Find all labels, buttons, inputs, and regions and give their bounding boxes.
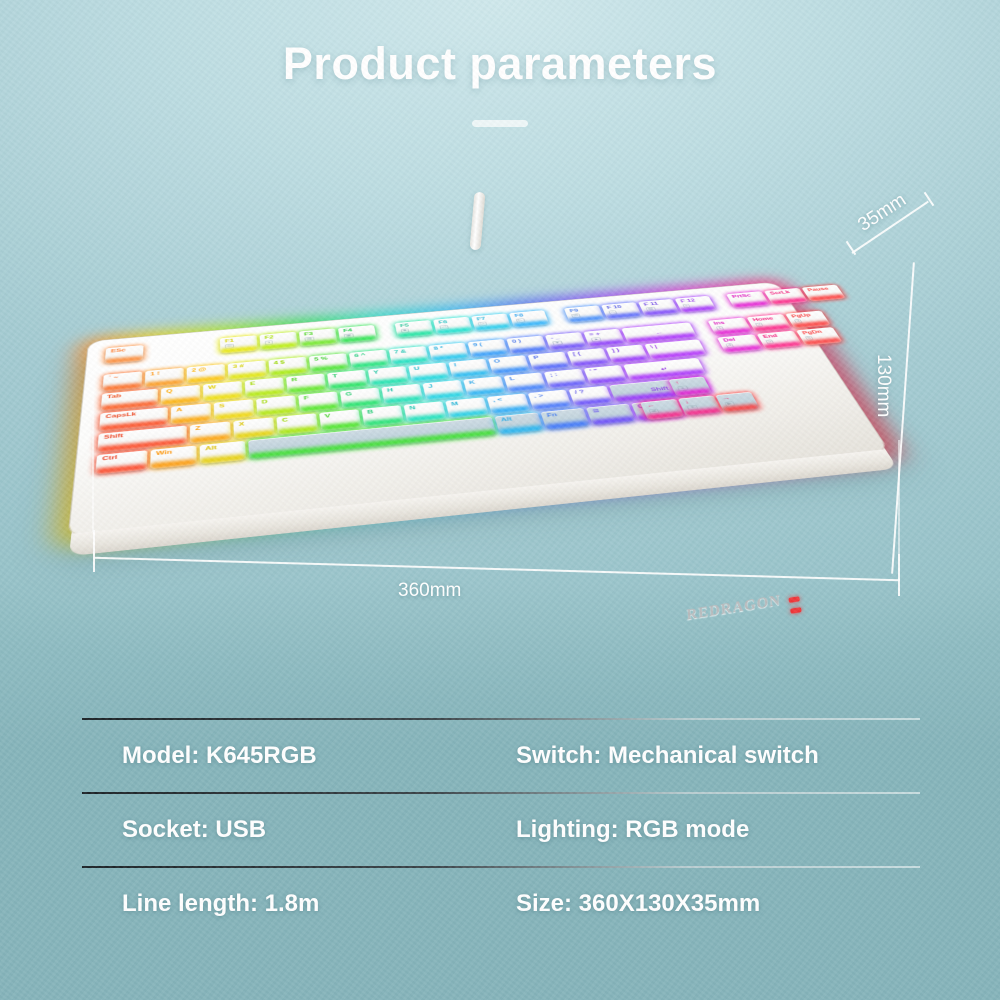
key-sublegend: ▲	[677, 386, 689, 391]
key-space[interactable]: ≣	[586, 404, 636, 426]
spec-item-left: Model: K645RGB	[82, 742, 492, 770]
key-legend: 5 %	[314, 356, 328, 361]
key-gap	[377, 323, 395, 339]
key-f3[interactable]: F3▤	[299, 328, 338, 346]
key-legend: ←	[654, 330, 663, 335]
key-legend: Shift	[650, 386, 670, 392]
key-s[interactable]: S	[214, 399, 254, 420]
key-pgdn[interactable]: PgDn6	[796, 327, 843, 345]
key-legend: V	[324, 414, 330, 419]
key-2[interactable]: 2 @	[187, 364, 226, 384]
key-arrow-right[interactable]: →▶	[715, 392, 760, 413]
spec-item-left: Socket: USB	[82, 816, 492, 844]
key-sublegend: ◁	[439, 325, 448, 330]
key-f7[interactable]: F7▷	[471, 313, 511, 331]
key-f9[interactable]: F9✉	[564, 305, 605, 322]
key-legend: Ins	[713, 321, 726, 326]
key-legend: F 11	[643, 302, 659, 307]
key-gap	[146, 339, 218, 361]
key-f-10[interactable]: F 10⌂	[601, 302, 642, 319]
key-legend: N	[409, 406, 416, 411]
key-f2[interactable]: F2◑	[259, 332, 297, 350]
key-capslk[interactable]: CapsLk	[99, 407, 168, 431]
key-legend: Q	[166, 389, 173, 394]
key-sublegend: ▷	[478, 322, 487, 327]
key-del[interactable]: Del4	[717, 334, 763, 353]
key-legend: F	[303, 396, 309, 401]
key-esc[interactable]: ESc	[105, 345, 144, 364]
keyboard-tilt: EScF1☰F2◑F3▤F4▣F5■F6◁F7▷F8▷F9✉F 10⌂F 11▧…	[68, 282, 894, 546]
key-8[interactable]: 8 *	[428, 342, 469, 361]
key-legend: Shift	[104, 433, 124, 440]
key-sublegend: ✉	[571, 313, 581, 318]
key-space[interactable]: ` ~	[102, 371, 142, 391]
key-legend: Tab	[107, 394, 122, 400]
spec-row: Line length: 1.8mSize: 360X130X35mm	[82, 868, 920, 940]
key-space[interactable]: = +▲	[583, 329, 625, 347]
key-h[interactable]: H	[381, 384, 423, 405]
spec-row: Socket: USBLighting: RGB mode	[82, 794, 920, 866]
key-scrlk[interactable]: ScrLk	[764, 288, 808, 305]
key-legend: Z	[195, 426, 200, 431]
key-space[interactable]	[248, 417, 497, 460]
key-1[interactable]: 1 !	[145, 368, 184, 388]
key-space[interactable]: ] }	[606, 344, 649, 363]
key-legend: W	[208, 385, 216, 390]
key-space[interactable]: ' "	[584, 365, 628, 385]
key-r[interactable]: R	[286, 373, 326, 393]
keyboard-case: EScF1☰F2◑F3▤F4▣F5■F6◁F7▷F8▷F9✉F 10⌂F 11▧…	[69, 282, 889, 537]
key-legend: 8 *	[433, 346, 444, 351]
key-legend: J	[428, 384, 434, 389]
key-legend: / ?	[574, 390, 585, 395]
key-legend: Ctrl	[102, 455, 118, 462]
key-legend: Ctrl	[637, 403, 653, 409]
key-sublegend: ■	[401, 328, 409, 333]
key-sublegend: ▤	[304, 337, 314, 342]
key-legend: 9 (	[473, 343, 483, 348]
key-l[interactable]: L	[504, 372, 547, 392]
key-space[interactable]: , <	[487, 393, 531, 414]
key-legend: L	[509, 377, 515, 382]
key-legend: S	[219, 404, 225, 409]
key-legend: ESc	[111, 348, 126, 353]
key-f5[interactable]: F5■	[395, 320, 434, 338]
key-legend: F6	[438, 320, 448, 325]
key-legend: ; :	[549, 373, 558, 378]
key-arrow-down[interactable]: ↓▼	[678, 395, 723, 416]
key-space[interactable]: [ {	[567, 348, 610, 367]
key-legend: Win	[156, 450, 172, 457]
key-legend: - _	[550, 336, 560, 341]
key-ins[interactable]: Ins1	[707, 317, 752, 335]
key-f[interactable]: F	[298, 391, 339, 412]
key-legend: F5	[400, 323, 410, 328]
key-legend: 2 @	[192, 367, 207, 373]
key-legend: G	[345, 392, 352, 397]
key-3[interactable]: 3 #	[228, 360, 267, 380]
key-legend: ←	[646, 403, 656, 408]
key-sublegend: ▷	[516, 318, 525, 323]
key-space[interactable]: ; :	[544, 369, 588, 389]
key-fn[interactable]: Fn	[540, 408, 589, 430]
key-pgup[interactable]: PgUp3	[785, 311, 831, 329]
key-legend: ↓	[684, 400, 690, 405]
keyboard-perspective-wrapper: EScF1☰F2◑F3▤F4▣F5■F6◁F7▷F8▷F9✉F 10⌂F 11▧…	[96, 232, 840, 562]
spec-item-right: Switch: Mechanical switch	[492, 742, 920, 770]
key-legend: Pause	[807, 287, 830, 292]
key-shift[interactable]: Shift	[97, 425, 187, 452]
key-a[interactable]: A	[171, 403, 211, 424]
key-legend: 7 &	[394, 349, 407, 354]
key-o[interactable]: O	[488, 355, 530, 374]
key-i[interactable]: I	[448, 359, 490, 379]
spec-item-left: Line length: 1.8m	[82, 890, 492, 918]
page-title: Product parameters	[0, 38, 1000, 90]
key-0[interactable]: 0 )	[506, 336, 548, 355]
key-f6[interactable]: F6◁	[433, 317, 473, 335]
key-legend: Del	[722, 338, 736, 343]
key-sublegend: ◀	[648, 409, 659, 415]
key-legend: Fn	[546, 412, 558, 418]
key-v[interactable]: V	[319, 409, 361, 431]
key-legend: F7	[476, 317, 486, 322]
led-indicator-scroll	[790, 607, 802, 614]
key-sublegend: ☰	[225, 344, 234, 349]
key-sublegend: ⌂	[608, 310, 617, 314]
key-legend: E	[250, 381, 256, 386]
key-legend: F3	[304, 332, 313, 337]
key-sublegend: ◑	[265, 340, 273, 345]
key-legend: ' "	[589, 369, 598, 374]
key-legend: End	[762, 334, 778, 339]
key-legend: \ |	[650, 345, 658, 350]
key-sublegend: ▣	[344, 333, 354, 338]
key-sublegend: 2	[755, 323, 764, 328]
key-home[interactable]: Home2	[746, 314, 791, 332]
key-t[interactable]: T	[327, 370, 368, 390]
key-j[interactable]: J	[422, 380, 464, 400]
key-u[interactable]: U	[408, 362, 449, 382]
key-f1[interactable]: F1☰	[220, 335, 258, 354]
key-sublegend: ⌕	[682, 304, 691, 308]
key-legend: ` ~	[108, 375, 118, 380]
key-sublegend: ▲	[591, 337, 602, 342]
key-legend: H	[387, 388, 394, 393]
key-legend: Alt	[500, 417, 512, 423]
key-ctrl[interactable]: Ctrl	[95, 450, 147, 474]
key-b[interactable]: B	[361, 405, 404, 427]
key-space[interactable]: - _▼	[545, 332, 587, 351]
title-underline-accent	[472, 120, 528, 127]
key-f-11[interactable]: F 11▧	[638, 299, 680, 316]
key-legend: F 10	[606, 305, 622, 310]
key-m[interactable]: M	[445, 397, 489, 418]
led-indicator-caps	[788, 596, 800, 603]
key-4[interactable]: 4 $	[268, 357, 307, 377]
spec-item-right: Lighting: RGB mode	[492, 816, 920, 844]
key-d[interactable]: D	[256, 395, 297, 416]
key-legend: K	[469, 380, 476, 385]
key-legend: 1 !	[150, 371, 160, 376]
key-legend: ≣	[592, 408, 601, 413]
key-pause[interactable]: Pause	[801, 285, 846, 302]
key-legend: 6 ^	[354, 353, 366, 358]
product-image-stage: EScF1☰F2◑F3▤F4▣F5■F6◁F7▷F8▷F9✉F 10⌂F 11▧…	[0, 170, 1000, 640]
spec-item-right: Size: 360X130X35mm	[492, 890, 920, 918]
key-alt[interactable]: Alt	[495, 412, 544, 434]
key-k[interactable]: K	[463, 376, 506, 396]
key-legend: ScrLk	[769, 290, 791, 295]
key-space[interactable]: / ?	[568, 386, 613, 407]
key-f4[interactable]: F4▣	[338, 325, 377, 343]
key-legend: M	[451, 402, 459, 407]
brand-logo: REDRAGON	[686, 592, 781, 624]
key-legend: P	[533, 356, 540, 361]
key-sublegend: ▧	[645, 307, 656, 312]
key-c[interactable]: C	[276, 413, 318, 435]
key-space[interactable]: . >	[528, 390, 572, 411]
keycap-plate: EScF1☰F2◑F3▤F4▣F5■F6◁F7▷F8▷F9✉F 10⌂F 11▧…	[91, 290, 870, 526]
key-legend: PgUp	[791, 313, 812, 319]
key-legend: [ {	[572, 352, 581, 357]
key-f8[interactable]: F8▷	[509, 310, 549, 328]
key-legend: 3 #	[233, 364, 244, 369]
specifications-table: Model: K645RGBSwitch: Mechanical switchS…	[82, 718, 920, 940]
key-legend: B	[367, 410, 374, 415]
key-e[interactable]: E	[245, 377, 285, 397]
key-n[interactable]: N	[404, 401, 447, 422]
key-legend: I	[454, 363, 457, 367]
key-alt[interactable]: Alt	[200, 441, 246, 465]
key-sublegend: 5	[765, 339, 774, 344]
key-6[interactable]: 6 ^	[349, 350, 389, 369]
key-legend: X	[239, 422, 245, 427]
key-legend: = +	[588, 332, 601, 337]
key-5[interactable]: 5 %	[309, 353, 349, 372]
keyboard-bottom-row: CtrlWinAltAltFn≣Ctrl	[95, 399, 685, 475]
key-legend: O	[493, 359, 500, 364]
key-legend: . >	[533, 393, 544, 398]
key-legend: R	[291, 378, 297, 383]
key-x[interactable]: X	[233, 417, 274, 439]
product-infographic: Product parameters EScF1☰F2◑F3▤F4▣F5■F6◁…	[0, 0, 1000, 1000]
header: Product parameters	[0, 38, 1000, 127]
key-legend: ] }	[611, 348, 620, 353]
key-sublegend: ▼	[686, 405, 698, 411]
key-7[interactable]: 7 &	[389, 346, 430, 365]
spec-row: Model: K645RGBSwitch: Mechanical switch	[82, 720, 920, 792]
key-legend: , <	[492, 397, 503, 402]
key-legend: 4 $	[273, 360, 284, 365]
key-arrow-up[interactable]: ↑▲	[668, 376, 712, 396]
key-win[interactable]: Win	[150, 445, 197, 469]
key-legend: Y	[373, 370, 379, 375]
key-legend: C	[282, 418, 289, 423]
key-arrow-left[interactable]: ←◀	[640, 399, 684, 420]
key-legend: PrtSc	[731, 294, 752, 299]
key-legend: T	[332, 374, 338, 379]
key-legend: Home	[752, 316, 775, 322]
key-legend: ↵	[660, 367, 669, 372]
key-y[interactable]: Y	[368, 366, 409, 386]
key-sublegend: 3	[794, 319, 803, 324]
key-legend: D	[261, 400, 267, 405]
key-legend: F2	[264, 335, 273, 340]
key-z[interactable]: Z	[190, 421, 231, 443]
key-sublegend: ▼	[552, 341, 563, 346]
key-end[interactable]: End5	[757, 331, 803, 350]
key-9[interactable]: 9 (	[467, 339, 508, 358]
key-sublegend: 4	[725, 343, 734, 348]
key-legend: A	[176, 408, 182, 413]
key-legend: ↑	[674, 381, 680, 386]
key-legend: PgDn	[801, 330, 823, 336]
key-sublegend: 1	[716, 326, 725, 331]
key-legend: →	[721, 396, 731, 401]
key-ctrl[interactable]: Ctrl	[631, 399, 685, 421]
key-legend: 0 )	[511, 339, 521, 344]
key-sublegend: ▶	[724, 401, 735, 406]
led-indicators	[788, 596, 802, 619]
key-prtsc[interactable]: PrtSc	[726, 291, 770, 308]
key-p[interactable]: P	[528, 352, 571, 371]
key-legend: F1	[225, 339, 234, 344]
key-legend: F 12	[680, 298, 696, 303]
key-sublegend: 6	[805, 336, 814, 341]
key-f-12[interactable]: F 12⌕	[675, 296, 717, 313]
key-legend: U	[413, 366, 420, 371]
